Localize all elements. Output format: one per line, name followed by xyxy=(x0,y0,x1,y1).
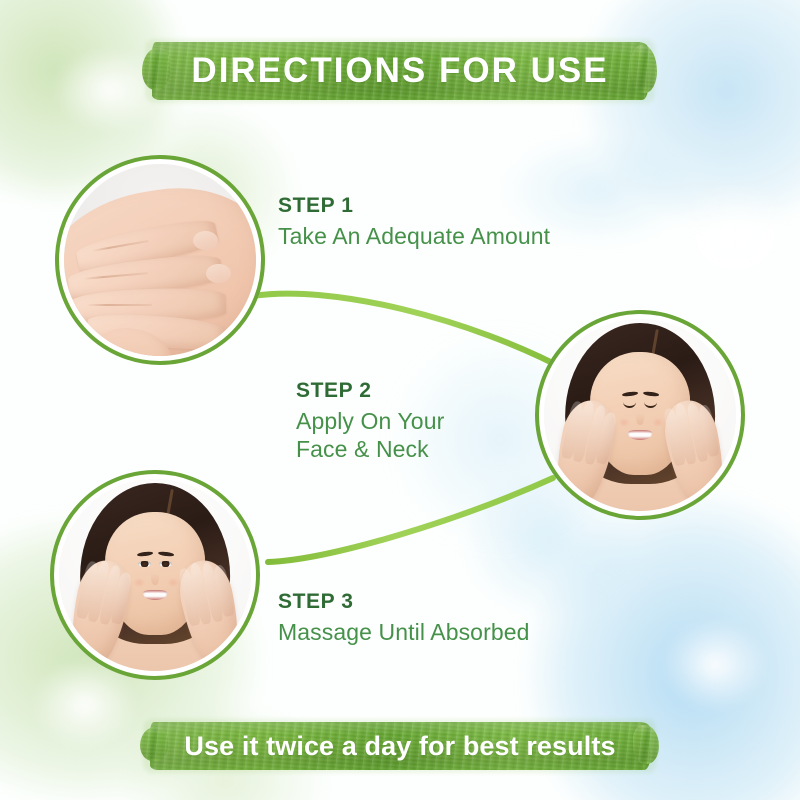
step-3-description: Massage Until Absorbed xyxy=(278,618,530,646)
directions-for-use-infographic: DIRECTIONS FOR USE STEP 1 Take An Adequa… xyxy=(0,0,800,800)
cloud-highlight-bottom-right xyxy=(640,600,790,730)
step-2-ring-border xyxy=(535,310,745,520)
step-1-label: STEP 1 xyxy=(278,193,550,219)
footer-banner: Use it twice a day for best results xyxy=(150,722,650,770)
step-3-caption: STEP 3 Massage Until Absorbed xyxy=(278,589,530,646)
footer-note: Use it twice a day for best results xyxy=(184,731,615,762)
step-3-photo-circle xyxy=(50,470,260,680)
step-1-ring-border xyxy=(55,155,265,365)
step-1-photo-circle xyxy=(55,155,265,365)
step-2-caption: STEP 2 Apply On Your Face & Neck xyxy=(296,378,444,463)
connector-step2-to-step3 xyxy=(268,478,553,562)
page-title: DIRECTIONS FOR USE xyxy=(191,51,608,91)
step-3-label: STEP 3 xyxy=(278,589,530,615)
step-1-description: Take An Adequate Amount xyxy=(278,222,550,250)
step-3-ring-border xyxy=(50,470,260,680)
title-banner: DIRECTIONS FOR USE xyxy=(152,42,648,100)
connector-step1-to-step2 xyxy=(253,294,570,372)
step-2-description: Apply On Your Face & Neck xyxy=(296,407,444,463)
cloud-highlight-top-right xyxy=(650,160,800,310)
step-2-photo-circle xyxy=(535,310,745,520)
step-1-caption: STEP 1 Take An Adequate Amount xyxy=(278,193,550,250)
step-2-label: STEP 2 xyxy=(296,378,444,404)
